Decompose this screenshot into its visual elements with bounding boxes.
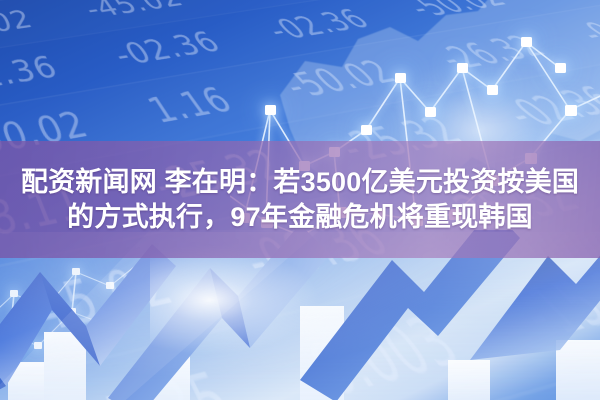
ticker-value: -02.36 xyxy=(107,27,228,73)
headline-line-1: 配资新闻网 李在明：若3500亿美元投资按美国 xyxy=(21,165,579,200)
ticker-value: -02.36 xyxy=(0,51,64,101)
headline-band: 配资新闻网 李在明：若3500亿美元投资按美国 的方式执行，97年金融危机将重现… xyxy=(0,141,600,258)
news-banner-image: -59.02 -05.36 21.55 45.02 -02.35 -03.35 … xyxy=(0,0,600,400)
ticker-value: 1.16 xyxy=(141,81,242,131)
headline-line-2: 的方式执行，97年金融危机将重现韩国 xyxy=(67,200,533,235)
